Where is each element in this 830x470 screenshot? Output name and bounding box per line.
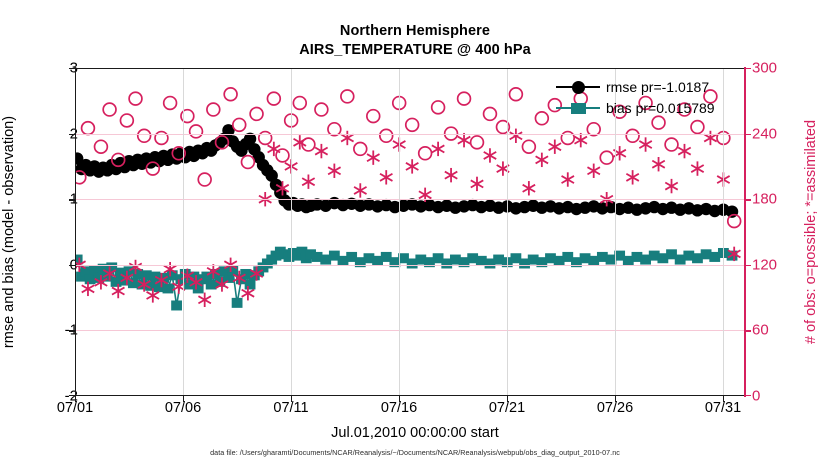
title-line-2: AIRS_TEMPERATURE @ 400 hPa (0, 41, 830, 60)
data-file-footer: data file: /Users/gharamti/Documents/NCA… (0, 448, 830, 457)
legend: rmse pr=-1.0187 bias pr=0.015789 (556, 76, 748, 118)
x-tick-0706: 07/06 (165, 400, 201, 416)
y-tick-right-0: 0 (752, 388, 760, 405)
legend-item-bias[interactable]: bias pr=0.015789 (556, 97, 715, 118)
legend-label-bias: bias pr=0.015789 (606, 100, 715, 116)
y-axis-label-right: # of obs: o=possible; *=assimilated (800, 68, 822, 396)
y-tick-right-300: 300 (752, 60, 777, 77)
tickmark-x-0706 (183, 396, 184, 402)
title-line-1: Northern Hemisphere (0, 22, 830, 41)
rmse-marker-icon (556, 80, 600, 94)
x-tick-0731: 07/31 (705, 400, 741, 416)
tickmark-x-0701 (75, 396, 76, 402)
legend-item-rmse[interactable]: rmse pr=-1.0187 (556, 76, 709, 97)
tickmark-x-0731 (723, 396, 724, 402)
y-tick-right-60: 60 (752, 322, 769, 339)
tickmark-x-0716 (399, 396, 400, 402)
tickmark-x-0726 (615, 396, 616, 402)
x-tick-0711: 07/11 (273, 400, 308, 416)
tickmark-x-0711 (291, 396, 292, 402)
x-tick-0726: 07/26 (597, 400, 633, 416)
y-tick-right-180: 180 (752, 191, 777, 208)
legend-label-rmse: rmse pr=-1.0187 (606, 79, 709, 95)
y-tick-right-240: 240 (752, 125, 777, 142)
x-axis-label: Jul.01,2010 00:00:00 start (0, 425, 830, 441)
y-axis-label-left: rmse and bias (model - observation) (0, 68, 20, 396)
x-tick-0716: 07/16 (381, 400, 417, 416)
y-tick-right-120: 120 (752, 256, 777, 273)
bias-marker-icon (556, 101, 600, 115)
chart-title: Northern Hemisphere AIRS_TEMPERATURE @ 4… (0, 22, 830, 60)
x-tick-0721: 07/21 (489, 400, 525, 416)
x-tick-0701: 07/01 (57, 400, 93, 416)
chart-canvas: Northern Hemisphere AIRS_TEMPERATURE @ 4… (0, 0, 830, 470)
tickmark-x-0721 (507, 396, 508, 402)
